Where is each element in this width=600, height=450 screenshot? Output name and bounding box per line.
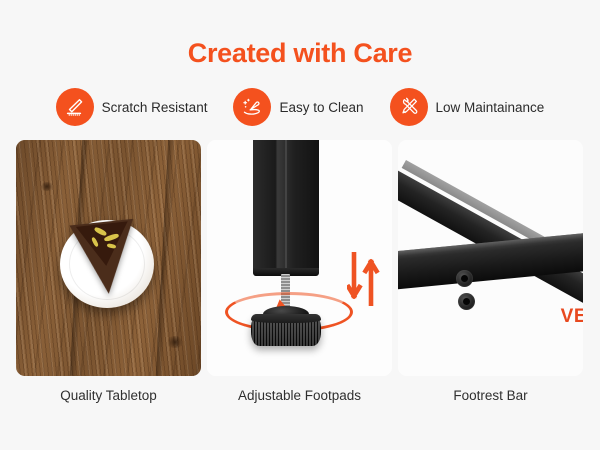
panel-footrest-bar[interactable]: VE bbox=[398, 140, 583, 376]
panel-gallery: VE bbox=[16, 140, 584, 376]
bolt bbox=[458, 293, 475, 310]
wood-knot bbox=[166, 336, 184, 348]
panel-adjustable-footpads[interactable] bbox=[207, 140, 392, 376]
feature-label: Scratch Resistant bbox=[102, 100, 208, 115]
cake-glaze bbox=[76, 221, 132, 268]
panel-quality-tabletop[interactable] bbox=[16, 140, 201, 376]
up-down-arrows-icon bbox=[347, 252, 381, 311]
bolt bbox=[456, 270, 473, 287]
caption-quality-tabletop: Quality Tabletop bbox=[16, 388, 201, 403]
spray-cleaning-icon bbox=[233, 88, 271, 126]
panel-captions: Quality Tabletop Adjustable Footpads Foo… bbox=[16, 388, 584, 403]
caption-footrest-bar: Footrest Bar bbox=[398, 388, 583, 403]
wrench-screwdriver-icon bbox=[390, 88, 428, 126]
feature-item-easy-to-clean: Easy to Clean bbox=[220, 88, 376, 126]
page-title: Created with Care bbox=[0, 38, 600, 69]
knife-scratch-icon bbox=[56, 88, 94, 126]
footpad-base bbox=[251, 314, 321, 346]
feature-label: Easy to Clean bbox=[279, 100, 363, 115]
wood-knot bbox=[40, 182, 54, 191]
feature-list: Scratch Resistant Easy to Clean Low Main… bbox=[0, 88, 600, 126]
brand-logo-text: VE bbox=[561, 306, 583, 328]
feature-label: Low Maintainance bbox=[436, 100, 545, 115]
feature-item-low-maintainance: Low Maintainance bbox=[377, 88, 558, 126]
feature-item-scratch-resistant: Scratch Resistant bbox=[43, 88, 221, 126]
table-leg-edge bbox=[285, 140, 287, 272]
caption-adjustable-footpads: Adjustable Footpads bbox=[207, 388, 392, 403]
